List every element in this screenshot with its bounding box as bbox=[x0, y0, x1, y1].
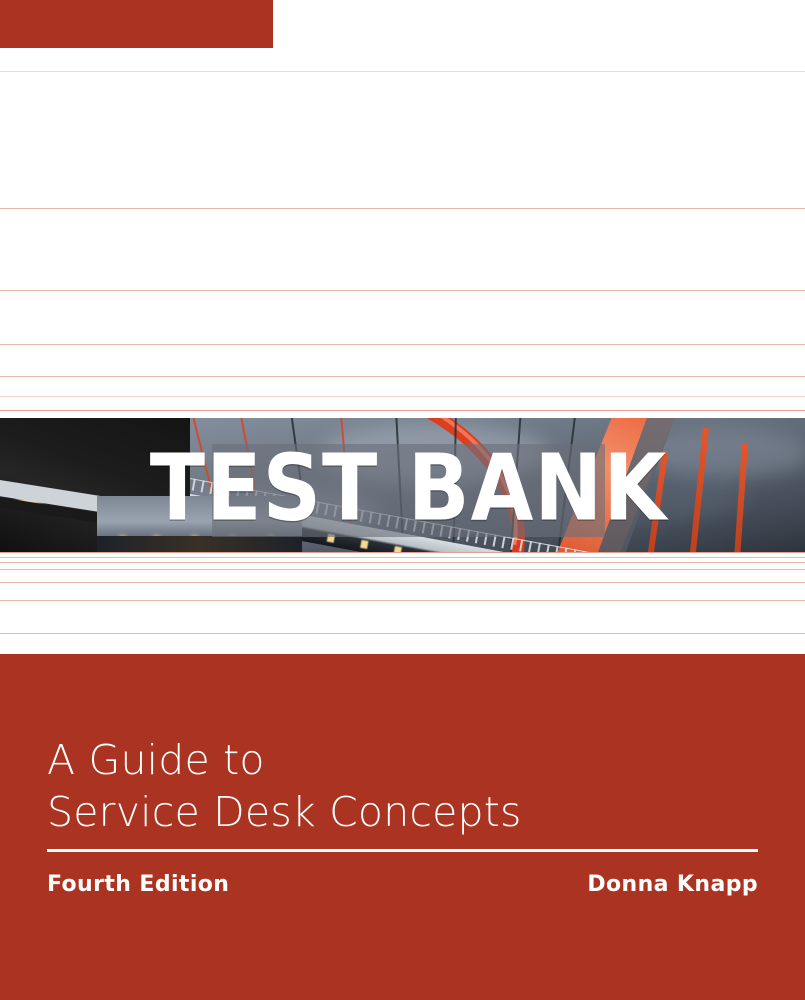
hairline-rule bbox=[0, 582, 805, 583]
hairline-rule bbox=[0, 71, 805, 72]
city-light bbox=[121, 537, 124, 540]
title-block: A Guide to Service Desk Concepts Fourth … bbox=[47, 734, 758, 897]
top-red-tab bbox=[0, 0, 273, 48]
test-bank-stamp: TEST BANK bbox=[204, 432, 613, 545]
author-name: Donna Knapp bbox=[587, 872, 758, 897]
hairline-rule bbox=[0, 376, 805, 377]
hairline-rule bbox=[0, 552, 805, 553]
hairline-rule bbox=[0, 396, 805, 397]
hairline-rule bbox=[0, 208, 805, 209]
lamp-glow bbox=[14, 492, 50, 506]
hairline-rule bbox=[0, 557, 805, 558]
book-title-line-1: A Guide to bbox=[47, 734, 758, 786]
hairline-rule bbox=[0, 562, 805, 563]
book-cover: TEST BANK A Guide to Service Desk Concep… bbox=[0, 0, 805, 1000]
title-panel: A Guide to Service Desk Concepts Fourth … bbox=[0, 654, 805, 1000]
edition-label: Fourth Edition bbox=[47, 872, 229, 897]
hairline-rule bbox=[0, 600, 805, 601]
title-underline bbox=[47, 849, 758, 852]
hairline-rule bbox=[0, 290, 805, 291]
hairline-rule bbox=[0, 410, 805, 411]
title-meta-row: Fourth Edition Donna Knapp bbox=[47, 872, 758, 897]
book-title-line-2: Service Desk Concepts bbox=[47, 786, 758, 838]
hairline-rule bbox=[0, 569, 805, 570]
hairline-rule bbox=[0, 633, 805, 634]
hairline-rule bbox=[0, 344, 805, 345]
